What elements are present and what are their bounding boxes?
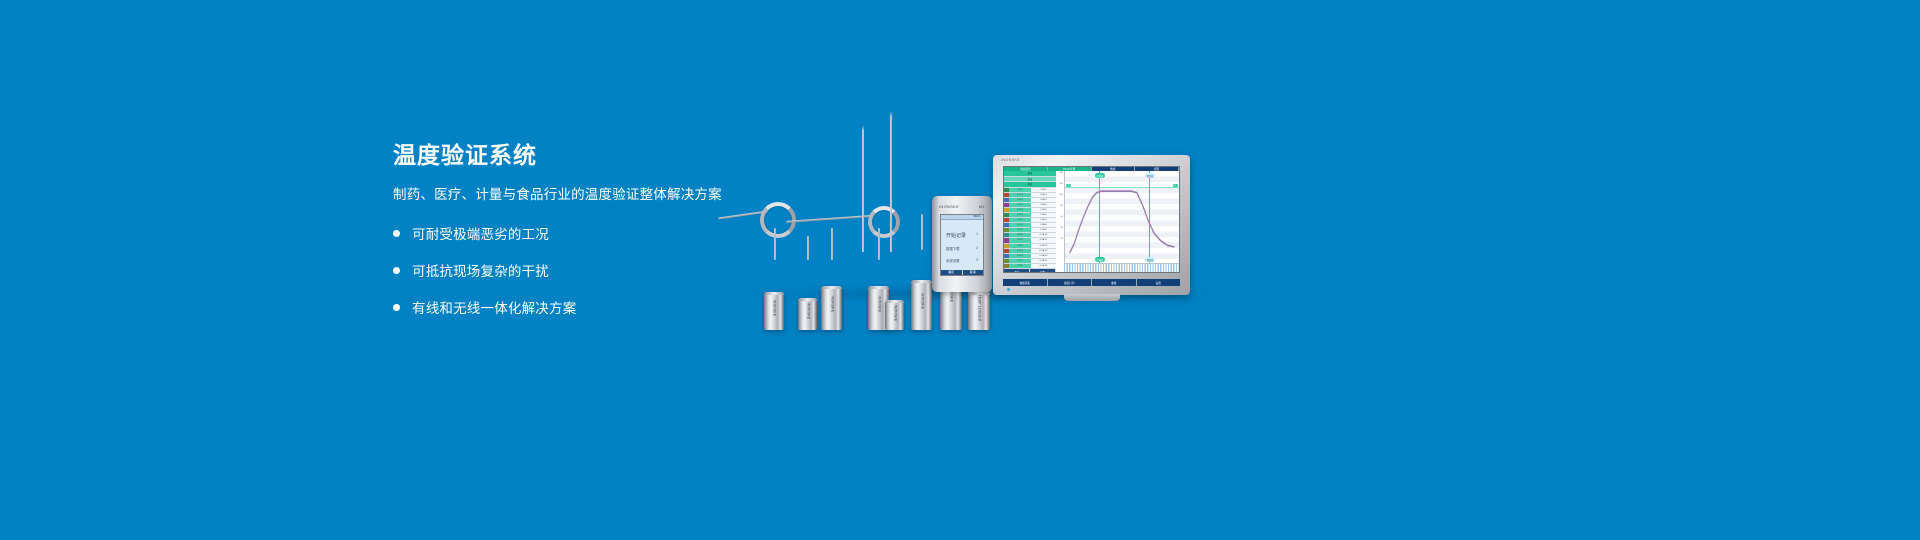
handheld-menu: 开始记录 1 数据下载 2 系统设置 3	[941, 220, 983, 270]
settings-button[interactable]: 设置	[1137, 279, 1181, 286]
curve-svg	[1065, 171, 1179, 264]
channel-panel: 通道 温度 数值 121.30.0A-1 121.10.0A-2 121.20.…	[1004, 171, 1056, 273]
cell-temp: 121.1	[1009, 193, 1031, 197]
channel-footer: 通道 设置	[1004, 269, 1056, 273]
cell-temp: 121.0	[1009, 203, 1031, 207]
cell-value: 0.0A-14	[1031, 254, 1056, 258]
menu-label: 开始记录	[946, 232, 966, 239]
probe-label: INONSKE	[919, 293, 924, 310]
probe-label: INONSKE	[829, 296, 834, 313]
settings-button[interactable]: 设置	[1030, 269, 1056, 273]
cell-temp: 121.5	[1009, 238, 1031, 242]
probe-wire	[786, 215, 870, 223]
time-axis-strip	[1064, 263, 1179, 273]
collect-data-button[interactable]: 数据采集	[1003, 279, 1048, 286]
cell-value: 0.0A-6	[1031, 213, 1056, 217]
probe-stem	[807, 236, 809, 260]
y-tick: 120	[1059, 183, 1063, 185]
handheld-model: M1	[979, 204, 985, 209]
list-item[interactable]: 开始记录 1	[941, 232, 983, 239]
needle-probe	[862, 132, 864, 252]
probe-stem	[774, 228, 776, 260]
cell-temp: 121.1	[1009, 218, 1031, 222]
cell-temp: 121.0	[1009, 233, 1031, 237]
cell-value: 0.0A-10	[1031, 233, 1056, 237]
probe-label: INONSKE	[805, 303, 810, 320]
cell-value: 0.0A-9	[1031, 228, 1056, 232]
handheld-screen-title: MENU	[973, 215, 981, 218]
cancel-button[interactable]: 取消	[963, 270, 984, 275]
software-toolbar: 数据采集 报表打印 曲线 设置	[1003, 279, 1180, 286]
cell-temp: 121.2	[1009, 259, 1031, 263]
cell-value: 0.0A-7	[1031, 218, 1056, 222]
cell-value: 0.0A-2	[1031, 193, 1056, 197]
cell-temp: 121.4	[1009, 208, 1031, 212]
power-led-icon	[1007, 288, 1010, 291]
probe-body: INONSKE	[764, 292, 784, 330]
feature-label: 有线和无线一体化解决方案	[412, 297, 576, 317]
cell-value: 0.0A-11	[1031, 238, 1056, 242]
list-item[interactable]: 数据下载 2	[941, 246, 983, 251]
cell-temp: 121.3	[1009, 223, 1031, 227]
temperature-chart[interactable]: 140 120 100 80 60 40 20 灭菌段 升温段	[1056, 171, 1179, 273]
probe-label: INONSKE	[876, 296, 881, 313]
cell-temp: 121.0	[1009, 264, 1031, 268]
handheld-buttonbar: 确定 取消	[941, 270, 983, 275]
probe-label: INONSKE	[771, 300, 776, 317]
menu-value: 2	[976, 246, 978, 251]
hero-banner: 温度验证系统 制药、医疗、计量与食品行业的温度验证整体解决方案 可耐受极端恶劣的…	[0, 0, 1920, 540]
y-axis: 140 120 100 80 60 40 20	[1056, 171, 1064, 273]
cell-value: 0.0A-5	[1031, 208, 1056, 212]
y-tick: 80	[1061, 205, 1063, 207]
menu-label: 系统设置	[946, 258, 960, 263]
feature-label: 可抵抗现场复杂的干扰	[412, 260, 549, 280]
probe-body: INONSKE	[885, 300, 904, 330]
cell-value: 0.0A-12	[1031, 244, 1056, 248]
cell-temp: 121.3	[1009, 254, 1031, 258]
bullet-dot-icon	[393, 230, 400, 237]
channel-button[interactable]: 通道	[1004, 269, 1030, 273]
handheld-brand: INONSKE	[939, 204, 959, 209]
y-tick: 40	[1061, 227, 1063, 229]
handheld-device[interactable]: INONSKE M1 MENU 开始记录 1 数据下载 2 系统设置 3	[932, 196, 992, 292]
cell-value: 0.0A-8	[1031, 223, 1056, 227]
probe-body: INONSKE	[911, 280, 932, 330]
cell-temp: 121.2	[1009, 213, 1031, 217]
probe-stem	[878, 228, 880, 260]
cell-value: 0.0A-3	[1031, 198, 1056, 202]
probe-body: INONSKE	[798, 298, 817, 330]
monitor-screen[interactable]: 验证报告 F0/A0计算 数据 报警 通道 温度 数值 121.30.0A-1 …	[1003, 166, 1180, 273]
y-tick: 140	[1059, 172, 1063, 174]
print-report-button[interactable]: 报表打印	[1048, 279, 1093, 286]
handheld-brand-row: INONSKE M1	[932, 204, 992, 209]
probe-coil-icon	[868, 206, 900, 238]
cell-value: 0.0A-1	[1031, 188, 1056, 192]
list-item[interactable]: 系统设置 3	[941, 258, 983, 263]
probe-label: TEMP LOGGER	[976, 294, 981, 321]
cell-value: 0.0A-13	[1031, 249, 1056, 253]
temperature-curve	[1070, 191, 1175, 253]
cell-temp: 121.2	[1009, 228, 1031, 232]
cell-temp: 121.3	[1009, 188, 1031, 192]
cell-value: 0.0A-16	[1031, 264, 1056, 268]
probe-stem	[921, 214, 923, 250]
needle-probe	[890, 118, 892, 252]
probe-label: INONSKE	[892, 304, 897, 321]
channel-table[interactable]: 121.30.0A-1 121.10.0A-2 121.20.0A-3 121.…	[1004, 188, 1056, 270]
cell-temp: 121.1	[1009, 249, 1031, 253]
cell-temp: 121.2	[1009, 244, 1031, 248]
monitor-brand: INONSKE	[1001, 158, 1020, 162]
handheld-screen[interactable]: MENU 开始记录 1 数据下载 2 系统设置 3 确定 取消	[940, 214, 984, 276]
monitor-device[interactable]: INONSKE 验证报告 F0/A0计算 数据 报警 通道 温度 数值 121.…	[993, 155, 1190, 295]
cell-value: 0.0A-4	[1031, 203, 1056, 207]
plot-area: 灭菌段 升温段 降温段 降温段 A B	[1064, 171, 1179, 264]
menu-value: 1	[976, 232, 978, 239]
probe-stem	[831, 228, 833, 260]
menu-label: 数据下载	[946, 246, 960, 251]
monitor-stand	[1064, 294, 1120, 301]
y-tick: 20	[1061, 238, 1063, 240]
cell-value: 0.0A-15	[1031, 259, 1056, 263]
confirm-button[interactable]: 确定	[941, 270, 963, 275]
probe-body: TEMP LOGGER	[968, 292, 990, 330]
cell-temp: 121.2	[1009, 198, 1031, 202]
y-tick: 60	[1061, 216, 1063, 218]
y-tick: 100	[1059, 194, 1063, 196]
probe-body: INONSKE	[821, 286, 842, 330]
bullet-dot-icon	[393, 267, 400, 274]
bullet-dot-icon	[393, 304, 400, 311]
menu-value: 3	[976, 258, 978, 263]
feature-label: 可耐受极端恶劣的工况	[412, 223, 549, 243]
curve-button[interactable]: 曲线	[1092, 279, 1137, 286]
software-body: 通道 温度 数值 121.30.0A-1 121.10.0A-2 121.20.…	[1004, 171, 1179, 273]
